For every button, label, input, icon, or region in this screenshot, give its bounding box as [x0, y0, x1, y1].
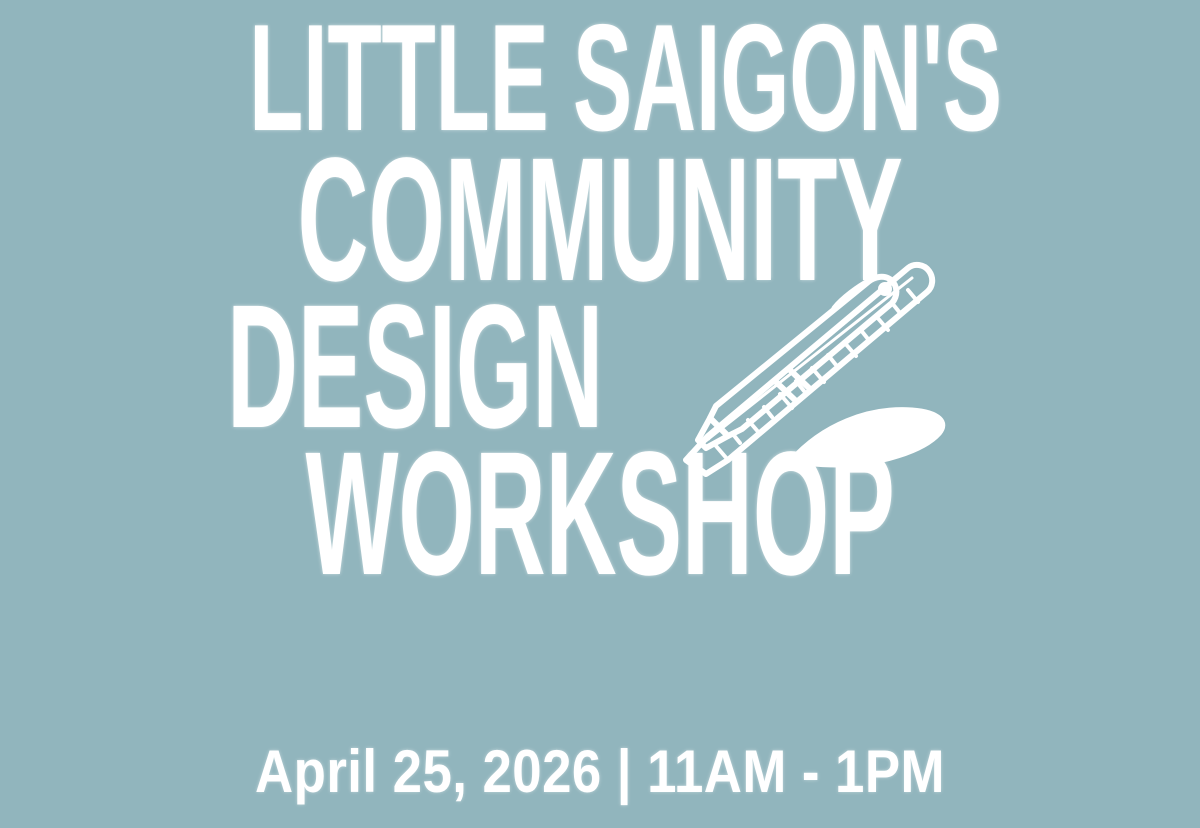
- pen-and-ruler-illustration: [672, 246, 960, 478]
- poster-headline: LITTLE SAIGON'S COMMUNITY DESIGN WORKSHO…: [0, 6, 1200, 599]
- illustration-svg: [672, 246, 960, 478]
- eraser-blade-icon: [790, 409, 944, 466]
- event-poster: LITTLE SAIGON'S COMMUNITY DESIGN WORKSHO…: [0, 0, 1200, 828]
- headline-line-3: DESIGN: [79, 283, 751, 452]
- event-datetime: April 25, 2026 | 11AM - 1PM: [72, 742, 1128, 802]
- headline-line-1: LITTLE SAIGON'S: [249, 6, 951, 152]
